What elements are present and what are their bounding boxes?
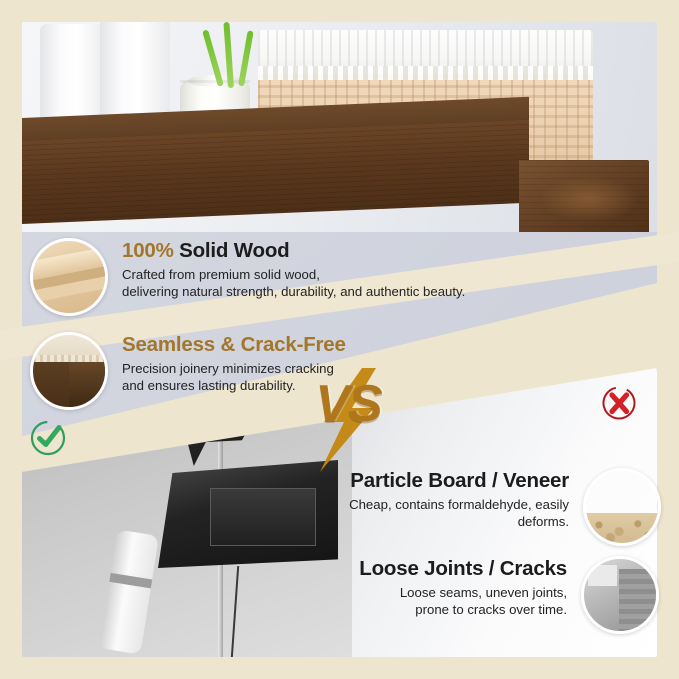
pro-feature-line1: Crafted from premium solid wood,	[122, 266, 465, 283]
con-feature-particle-board: Particle Board / Veneer Cheap, contains …	[336, 468, 661, 546]
versus-label: VS	[296, 378, 400, 430]
pro-feature-highlight: 100%	[122, 239, 174, 262]
versus-badge: VS	[296, 372, 400, 468]
light-wood-planks-thumbnail	[30, 238, 108, 316]
dark-wood-joint-thumbnail	[30, 332, 108, 410]
cracked-cabinet-thumbnail	[581, 556, 659, 634]
pro-feature-title: Seamless & Crack-Free	[122, 334, 346, 357]
con-feature-loose-joints: Loose Joints / Cracks Loose seams, uneve…	[352, 556, 659, 634]
paper-roll	[99, 529, 159, 654]
particle-board-thumbnail	[583, 468, 661, 546]
con-feature-line1: Loose seams, uneven joints,	[352, 584, 567, 601]
pro-feature-title: 100% Solid Wood	[122, 240, 465, 263]
infographic-root: 100% Solid Wood Crafted from premium sol…	[0, 0, 679, 679]
walnut-floating-shelf	[22, 118, 657, 232]
con-feature-line2: prone to cracks over time.	[352, 601, 567, 618]
pro-feature-title-text: Solid Wood	[174, 239, 290, 262]
hanging-cord	[231, 566, 239, 657]
pro-feature-solid-wood: 100% Solid Wood Crafted from premium sol…	[30, 238, 465, 316]
con-feature-title: Particle Board / Veneer	[336, 470, 569, 493]
sagging-black-shelf	[158, 460, 338, 568]
con-feature-title: Loose Joints / Cracks	[352, 558, 567, 581]
pro-feature-line2: delivering natural strength, durability,…	[122, 283, 465, 300]
con-feature-line1: Cheap, contains formaldehyde, easily def…	[336, 496, 569, 531]
check-circle-icon	[28, 418, 68, 458]
hero-product-photo	[22, 22, 657, 232]
cross-circle-icon	[599, 383, 639, 423]
